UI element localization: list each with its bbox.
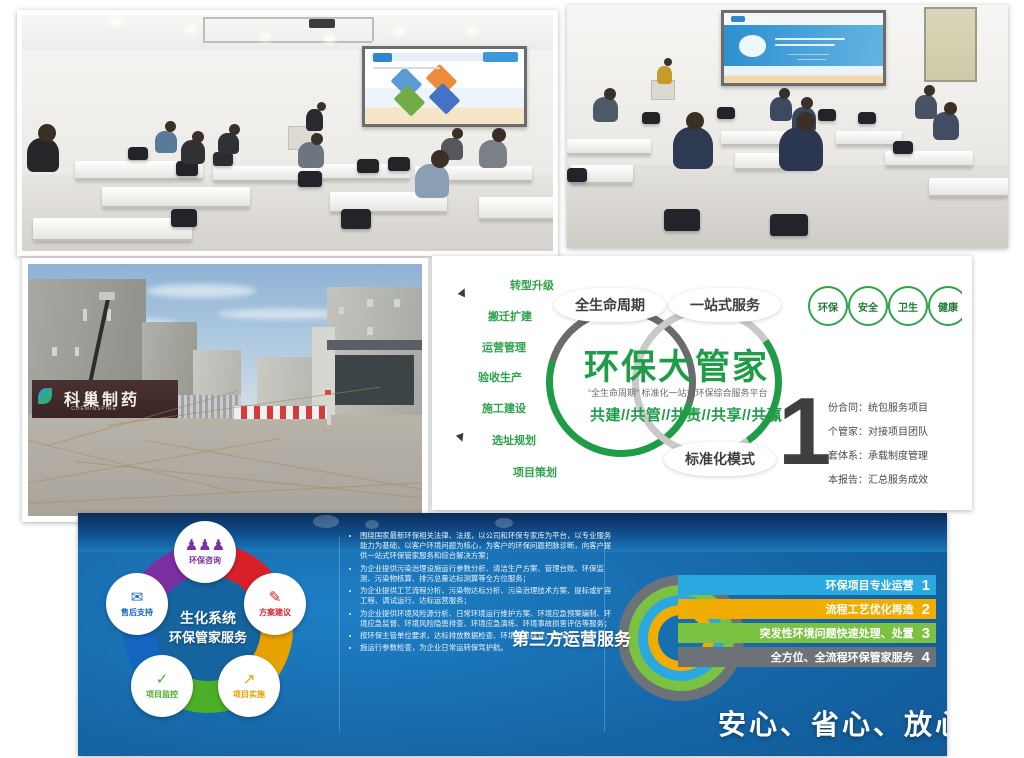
number-row-1: 个管家：对接项目团队 [828, 423, 928, 438]
wheel-node-consulting[interactable]: ♟♟♟ 环保咨询 [174, 521, 236, 583]
wheel-node-label: 环保咨询 [189, 555, 221, 566]
callout-onestop: 一站式服务 [669, 288, 781, 322]
stage-label-4: 施工建设 [482, 400, 526, 416]
stage-label-3: 验收生产 [478, 369, 522, 385]
wheel-node-label: 方案建议 [259, 607, 291, 618]
bubble-decor [495, 518, 513, 528]
ceiling-light [325, 36, 334, 41]
presenter [306, 109, 323, 131]
ceiling-light [468, 28, 477, 33]
list-item: 为企业提供污染治理设施运行参数分析、清洁生产方案、管理台账、环保监测、污染物核算… [360, 564, 612, 584]
chair [357, 159, 379, 173]
photo-training-right [567, 5, 1008, 248]
chip-weisheng: 卫生 [888, 286, 928, 326]
tps-item-number: 1 [922, 577, 930, 594]
chair [818, 109, 836, 121]
tps-item-2[interactable]: 流程工艺优化再造 2 [678, 599, 936, 619]
attendee [770, 97, 792, 121]
window [75, 347, 79, 356]
slide-diamond [393, 85, 425, 117]
stage-label-5: 选址规划 [492, 432, 536, 448]
panel-green-infographic: 转型升级 搬迁扩建 运营管理 验收生产 施工建设 选址规划 项目策划 全生命周期… [432, 256, 972, 510]
slide-text-line [797, 59, 826, 60]
tps-item-label: 突发性环境问题快速处理、处置 [760, 625, 914, 641]
infographic-share-line: 共建//共管//共责//共享//共赢 [590, 404, 782, 425]
callout-lifecycle: 全生命周期 [554, 288, 666, 322]
tps-item-4[interactable]: 全方位、全流程环保管家服务 4 [678, 647, 936, 667]
chair [893, 141, 913, 154]
wheel-center-line1: 生化系统 [180, 610, 236, 626]
chair [298, 171, 322, 187]
slide-circle-graphic [739, 35, 766, 56]
guard-post [327, 395, 331, 425]
slide-logo [373, 53, 392, 62]
stage-label-2: 运营管理 [482, 339, 526, 355]
desk [479, 197, 553, 220]
ceiling-beam [203, 17, 205, 41]
slide-content [365, 49, 524, 125]
company-logo-icon [38, 388, 52, 404]
canopy [327, 340, 422, 350]
number-row-2: 套体系：承载制度管理 [828, 447, 928, 462]
ceiling-light [187, 27, 196, 32]
desk [102, 187, 251, 208]
number-row-0: 份合同：统包服务项目 [828, 399, 928, 414]
window [367, 327, 373, 335]
infographic-canvas: 转型升级 搬迁扩建 运营管理 验收生产 施工建设 选址规划 项目策划 全生命周期… [442, 264, 962, 502]
slide-content [724, 13, 883, 83]
window [394, 299, 400, 307]
tps-item-1[interactable]: 环保项目专业运营 1 [678, 575, 936, 595]
slide-text-line [788, 54, 829, 55]
infographic-subtitle: “全生命周期” 标准化一站式环保综合服务平台 [588, 386, 768, 399]
factory-scene: 科巢制药 CHEMINSPIRE [28, 264, 422, 516]
projection-screen [362, 46, 527, 128]
wheel-center-line2: 环保管家服务 [169, 630, 247, 645]
wheel-node-implementation[interactable]: ↗ 项目实施 [218, 655, 280, 717]
chair [567, 168, 587, 182]
attendee-head [801, 97, 813, 109]
poster-canvas: 科巢制药 CHEMINSPIRE 转型升级 搬 [0, 0, 1024, 758]
slide-footer [724, 66, 883, 84]
wheel-node-monitoring[interactable]: ✓ 项目监控 [131, 655, 193, 717]
wheel-node-label: 售后支持 [121, 607, 153, 618]
glass-facade [335, 355, 414, 405]
attendee-head [38, 124, 56, 142]
chip-anquan: 安全 [848, 286, 888, 326]
wheel-node-aftersales[interactable]: ✉ 售后支持 [106, 573, 168, 635]
slide-button [483, 52, 518, 62]
wheel-node-label: 项目监控 [146, 689, 178, 700]
company-name-en: CHEMINSPIRE [71, 406, 117, 412]
chip-jiankang: 健康 [928, 286, 962, 326]
window [83, 309, 87, 321]
tps-item-number: 2 [922, 601, 930, 618]
attendee-head [779, 88, 790, 99]
panel-blue-services: 生化系统 环保管家服务 ♟♟♟ 环保咨询 ✎ 方案建议 ↗ 项目实施 ✓ 项目监… [78, 513, 947, 756]
window-blind [924, 7, 977, 81]
attendee [479, 140, 507, 168]
tps-title: 第三方运营服务 [512, 625, 631, 650]
list-item: 为企业提供工艺流程分析、污染物达标分析、污染治理技术方案、提标或扩容工程、调试运… [360, 586, 612, 606]
chip-huanbao: 环保 [808, 286, 848, 326]
attendee [915, 95, 937, 119]
tps-item-label: 流程工艺优化再造 [826, 601, 914, 617]
people-icon: ♟♟♟ [185, 538, 225, 553]
attendee-head [192, 131, 204, 143]
window [367, 299, 373, 307]
crane-head [99, 292, 115, 300]
ceiling-beam [203, 17, 373, 19]
attendee-head [431, 150, 449, 168]
desk [929, 178, 1008, 197]
chair [388, 157, 410, 171]
attendee [933, 112, 959, 140]
infographic-title: 环保大管家 [584, 339, 769, 390]
attendee [298, 142, 324, 168]
big-number-one: 1 [778, 384, 831, 480]
attendee [218, 133, 239, 154]
chair [664, 209, 700, 231]
wheel-node-label: 项目实施 [233, 689, 265, 700]
wheel-node-proposal[interactable]: ✎ 方案建议 [244, 573, 306, 635]
desk [567, 139, 651, 156]
ceiling-beam [372, 17, 374, 41]
company-signboard: 科巢制药 CHEMINSPIRE [32, 380, 178, 418]
attendee [779, 127, 823, 171]
callout-standard: 标准化模式 [664, 442, 776, 476]
ceiling-light [394, 29, 403, 34]
training-left-scene [22, 15, 553, 251]
slide-logo [731, 16, 745, 22]
ceiling-beam [203, 41, 373, 43]
tps-item-3[interactable]: 突发性环境问题快速处理、处置 3 [678, 623, 936, 643]
attendee [27, 138, 59, 172]
document-pen-icon: ✎ [269, 590, 282, 605]
slide-diamond [429, 83, 461, 115]
slide-text-line [775, 44, 835, 46]
ceiling-light [261, 34, 270, 39]
attendee [415, 164, 449, 198]
chair [128, 147, 148, 160]
chart-icon: ↗ [243, 672, 256, 687]
tps-item-number: 4 [922, 649, 930, 666]
chair [171, 209, 197, 227]
attendee-head [686, 112, 704, 130]
number-row-3: 本报告：汇总服务成效 [828, 471, 928, 486]
traffic-barrier [233, 405, 330, 420]
slide-text-line [373, 67, 440, 69]
photo-factory-gate: 科巢制药 CHEMINSPIRE [22, 258, 428, 522]
attendee [673, 127, 713, 169]
window [339, 307, 344, 314]
wheel-center-label: 生化系统 环保管家服务 [158, 609, 258, 647]
projection-screen [721, 10, 886, 86]
tps-item-label: 全方位、全流程环保管家服务 [771, 649, 914, 665]
desk [33, 218, 192, 241]
list-item: 围绕国家最新环保相关法律、法规，以公司和环保专家库为平台，以专业服务能力为基础，… [360, 531, 612, 562]
training-right-scene [567, 5, 1008, 248]
stage-label-6: 项目策划 [513, 464, 557, 480]
desk [836, 131, 902, 145]
attendee [155, 131, 177, 153]
slide-header-bar [724, 13, 883, 25]
tps-item-label: 环保项目专业运营 [826, 577, 914, 593]
photo-training-left [17, 10, 558, 256]
attendee [181, 140, 205, 164]
section-divider [339, 537, 340, 731]
slogan-text: 安心、省心、放心 [718, 703, 947, 743]
chair [717, 107, 735, 119]
presenter [657, 66, 672, 84]
attendee [593, 97, 618, 122]
window [52, 347, 57, 356]
blue-canvas: 生化系统 环保管家服务 ♟♟♟ 环保咨询 ✎ 方案建议 ↗ 项目实施 ✓ 项目监… [78, 513, 947, 756]
hand-box-icon: ✉ [131, 590, 144, 605]
chair [770, 214, 808, 236]
chair [642, 112, 660, 124]
chair [858, 112, 876, 124]
slide-text-line [775, 38, 845, 40]
projector [309, 19, 335, 28]
tps-item-number: 3 [922, 625, 930, 642]
attendee-head [229, 124, 240, 135]
stage-label-0: 转型升级 [510, 277, 554, 293]
stage-label-1: 搬迁扩建 [488, 308, 532, 324]
clipboard-check-icon: ✓ [156, 672, 169, 687]
chair [341, 209, 371, 229]
presenter-head [317, 102, 326, 111]
